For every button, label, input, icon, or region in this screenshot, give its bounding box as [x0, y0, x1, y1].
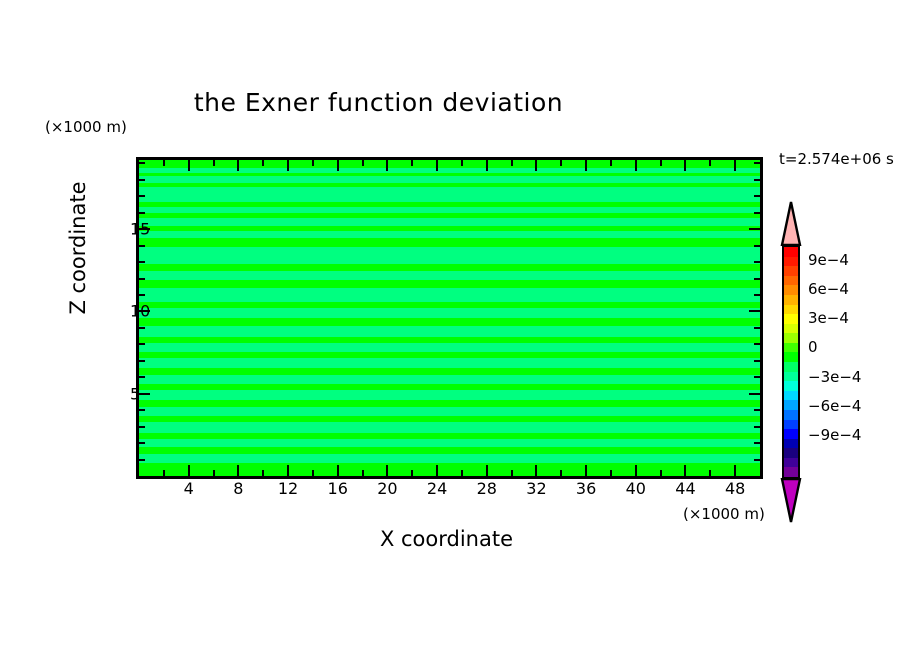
axis-tick — [535, 160, 537, 171]
axis-tick — [754, 179, 760, 181]
axis-tick — [139, 343, 145, 345]
axis-tick — [660, 160, 662, 166]
x-axis-title: X coordinate — [136, 527, 757, 551]
axis-tick — [754, 343, 760, 345]
heatmap-stripe — [139, 271, 760, 281]
axis-tick — [287, 465, 289, 476]
colorbar-tick-label: −6e−4 — [808, 397, 861, 415]
axis-tick — [754, 376, 760, 378]
axis-tick — [188, 160, 190, 171]
colorbar-tick-label: 9e−4 — [808, 251, 849, 269]
axis-tick — [287, 160, 289, 171]
axis-tick — [139, 195, 145, 197]
axis-tick — [754, 360, 760, 362]
axis-tick — [660, 470, 662, 476]
plot-area — [136, 157, 763, 479]
x-tick-label: 20 — [377, 479, 397, 498]
axis-tick — [684, 465, 686, 476]
axis-tick — [754, 442, 760, 444]
axis-tick — [262, 470, 264, 476]
axis-tick — [610, 160, 612, 166]
time-annotation: t=2.574e+06 s — [779, 150, 894, 168]
x-tick-label: 12 — [278, 479, 298, 498]
axis-tick — [709, 160, 711, 166]
axis-tick — [139, 162, 145, 164]
axis-tick — [312, 160, 314, 166]
axis-tick — [139, 212, 145, 214]
axis-tick — [337, 160, 339, 171]
axis-tick — [754, 245, 760, 247]
y-axis-title: Z coordinate — [66, 158, 90, 338]
axis-tick — [511, 470, 513, 476]
axis-tick — [749, 310, 760, 312]
axis-tick — [139, 376, 145, 378]
axis-tick — [684, 160, 686, 171]
axis-tick — [139, 393, 150, 395]
axis-tick — [749, 228, 760, 230]
axis-tick — [386, 465, 388, 476]
axis-tick — [560, 470, 562, 476]
x-tick-label: 24 — [427, 479, 447, 498]
axis-tick — [139, 179, 145, 181]
axis-tick — [213, 470, 215, 476]
axis-tick — [749, 393, 760, 395]
x-tick-label: 28 — [477, 479, 497, 498]
axis-tick — [486, 465, 488, 476]
axis-tick — [139, 278, 145, 280]
axis-tick — [635, 160, 637, 171]
axis-tick — [139, 442, 145, 444]
axis-tick — [411, 470, 413, 476]
axis-tick — [734, 160, 736, 171]
axis-tick — [337, 465, 339, 476]
heatmap-field — [139, 160, 760, 476]
x-tick-label: 4 — [184, 479, 194, 498]
heatmap-stripe — [139, 288, 760, 302]
axis-tick — [754, 261, 760, 263]
colorbar-tick-label: 3e−4 — [808, 309, 849, 327]
heatmap-stripe — [139, 390, 760, 401]
axis-tick — [139, 261, 145, 263]
heatmap-stripe — [139, 247, 760, 265]
axis-tick — [754, 162, 760, 164]
axis-tick — [461, 160, 463, 166]
axis-tick — [754, 294, 760, 296]
axis-tick — [610, 470, 612, 476]
axis-tick — [139, 294, 145, 296]
x-tick-label: 16 — [328, 479, 348, 498]
x-tick-label: 44 — [675, 479, 695, 498]
colorbar-under-cap — [780, 478, 802, 524]
axis-tick — [213, 160, 215, 166]
axis-tick — [535, 465, 537, 476]
axis-tick — [139, 327, 145, 329]
heatmap-stripe — [139, 308, 760, 318]
axis-tick — [754, 327, 760, 329]
axis-tick — [139, 426, 145, 428]
axis-tick — [734, 465, 736, 476]
heatmap-stripe — [139, 463, 760, 476]
page-title: the Exner function deviation — [0, 88, 757, 117]
axis-tick — [386, 160, 388, 171]
axis-tick — [585, 465, 587, 476]
colorbar-tick-label: −9e−4 — [808, 426, 861, 444]
axis-tick — [754, 409, 760, 411]
colorbar-tick-label: 0 — [808, 338, 818, 356]
axis-tick — [754, 212, 760, 214]
axis-tick — [411, 160, 413, 166]
colorbar-over-cap — [780, 200, 802, 246]
axis-tick — [461, 470, 463, 476]
axis-tick — [436, 160, 438, 171]
x-axis-units-label: (×1000 m) — [683, 505, 765, 523]
axis-tick — [486, 160, 488, 171]
axis-tick — [709, 470, 711, 476]
axis-tick — [139, 409, 145, 411]
axis-tick — [362, 470, 364, 476]
colorbar-tick-label: 6e−4 — [808, 280, 849, 298]
chart-canvas: the Exner function deviation (×1000 m) (… — [0, 0, 904, 654]
y-axis-units-label: (×1000 m) — [45, 118, 127, 136]
axis-tick — [560, 160, 562, 166]
axis-tick — [754, 459, 760, 461]
axis-tick — [262, 160, 264, 166]
heatmap-stripe — [139, 187, 760, 202]
axis-tick — [754, 426, 760, 428]
axis-tick — [754, 195, 760, 197]
x-tick-label: 36 — [576, 479, 596, 498]
colorbar-band — [784, 467, 798, 477]
x-tick-label: 48 — [725, 479, 745, 498]
axis-tick — [754, 278, 760, 280]
axis-tick — [139, 360, 145, 362]
heatmap-stripe — [139, 454, 760, 464]
axis-tick — [312, 470, 314, 476]
heatmap-stripe — [139, 422, 760, 433]
axis-tick — [139, 459, 145, 461]
x-tick-label: 40 — [626, 479, 646, 498]
heatmap-stripe — [139, 326, 760, 338]
axis-tick — [163, 470, 165, 476]
heatmap-stripe — [139, 358, 760, 369]
colorbar-bands — [782, 245, 800, 479]
heatmap-stripe — [139, 375, 760, 385]
axis-tick — [237, 465, 239, 476]
axis-tick — [188, 465, 190, 476]
x-tick-label: 32 — [526, 479, 546, 498]
axis-tick — [511, 160, 513, 166]
axis-tick — [635, 465, 637, 476]
colorbar: 9e−46e−43e−40−3e−4−6e−4−9e−4 — [780, 200, 802, 520]
axis-tick — [362, 160, 364, 166]
axis-tick — [585, 160, 587, 171]
axis-tick — [163, 160, 165, 166]
x-tick-label: 8 — [233, 479, 243, 498]
axis-tick — [139, 245, 145, 247]
axis-tick — [436, 465, 438, 476]
axis-tick — [237, 160, 239, 171]
colorbar-tick-label: −3e−4 — [808, 368, 861, 386]
